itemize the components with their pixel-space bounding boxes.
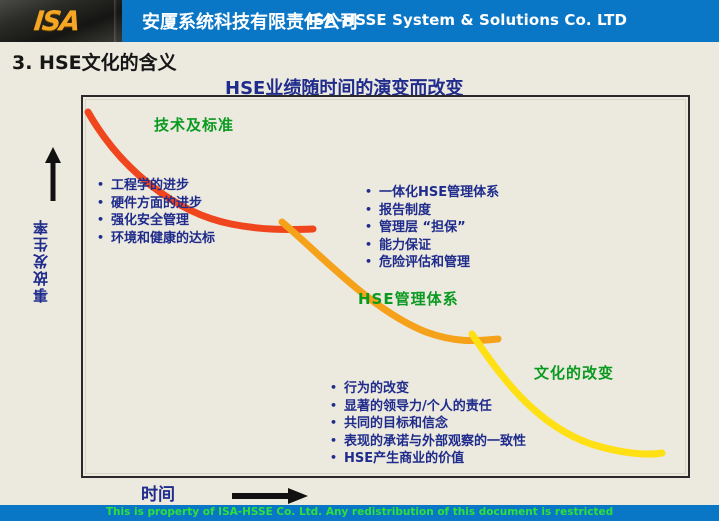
list-item: 表现的承诺与外部观察的一致性 xyxy=(330,433,526,451)
slide-canvas: ISA 安厦系统科技有限责任公司 ISA-HSSE System & Solut… xyxy=(0,0,719,521)
list-item: 危险评估和管理 xyxy=(365,254,499,272)
group-heading-management-system: HSE管理体系 xyxy=(358,288,459,309)
group-bullets-culture-change: 行为的改变 显著的领导力/个人的责任 共同的目标和信念 表现的承诺与外部观察的一… xyxy=(330,380,526,468)
list-item: 强化安全管理 xyxy=(97,212,215,230)
list-item: 工程学的进步 xyxy=(97,177,215,195)
footer-bar: This is property of ISA-HSSE Co. Ltd. An… xyxy=(0,505,719,521)
list-item: 环境和健康的达标 xyxy=(97,230,215,248)
list-item: 硬件方面的进步 xyxy=(97,195,215,213)
y-axis-label: 事故发生率 xyxy=(30,218,51,303)
list-item: 行为的改变 xyxy=(330,380,526,398)
logo-panel: ISA xyxy=(0,0,122,42)
footer-text: This is property of ISA-HSSE Co. Ltd. An… xyxy=(0,506,719,518)
x-axis-label: 时间 xyxy=(141,480,175,505)
page-title: 3. HSE文化的含义 xyxy=(12,48,177,75)
company-name-en: ISA-HSSE System & Solutions Co. LTD xyxy=(308,11,627,29)
group-heading-technology: 技术及标准 xyxy=(154,114,234,135)
list-item: 一体化HSE管理体系 xyxy=(365,184,499,202)
header-bar: ISA 安厦系统科技有限责任公司 ISA-HSSE System & Solut… xyxy=(0,0,719,42)
up-arrow-icon xyxy=(45,147,61,201)
group-heading-culture-change: 文化的改变 xyxy=(534,362,614,383)
isa-logo: ISA xyxy=(32,6,80,37)
list-item: 显著的领导力/个人的责任 xyxy=(330,398,526,416)
list-item: HSE产生商业的价值 xyxy=(330,450,526,468)
list-item: 管理层 “担保” xyxy=(365,219,499,237)
list-item: 报告制度 xyxy=(365,202,499,220)
list-item: 能力保证 xyxy=(365,237,499,255)
header-title-bar: 安厦系统科技有限责任公司 ISA-HSSE System & Solutions… xyxy=(122,0,719,42)
right-arrow-icon xyxy=(232,488,308,504)
group-bullets-technology: 工程学的进步 硬件方面的进步 强化安全管理 环境和健康的达标 xyxy=(97,177,215,247)
group-bullets-management-system: 一体化HSE管理体系 报告制度 管理层 “担保” 能力保证 危险评估和管理 xyxy=(365,184,499,272)
list-item: 共同的目标和信念 xyxy=(330,415,526,433)
